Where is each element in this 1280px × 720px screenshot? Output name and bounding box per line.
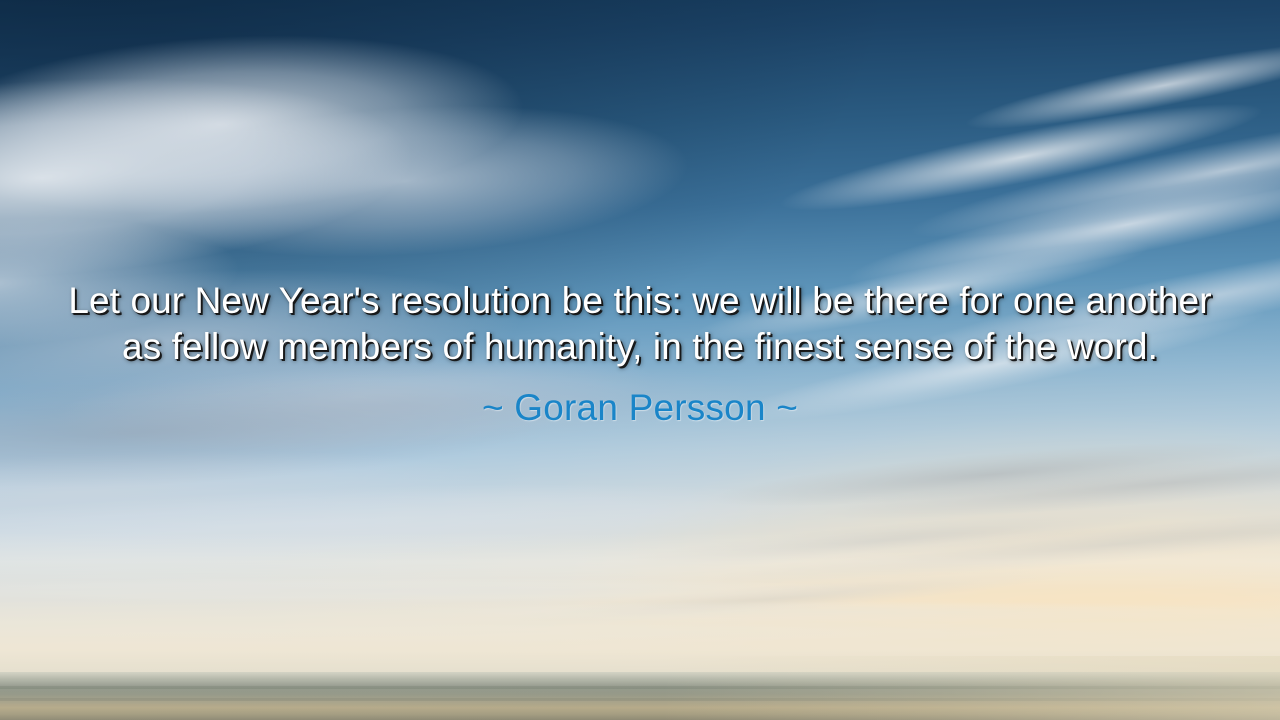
ground-warm-light bbox=[660, 656, 1280, 720]
quote-image-canvas: Let our New Year's resolution be this: w… bbox=[0, 0, 1280, 720]
quote-text-block: Let our New Year's resolution be this: w… bbox=[0, 278, 1280, 430]
quote-attribution: ~ Goran Persson ~ bbox=[56, 386, 1224, 430]
quote-text: Let our New Year's resolution be this: w… bbox=[56, 278, 1224, 370]
